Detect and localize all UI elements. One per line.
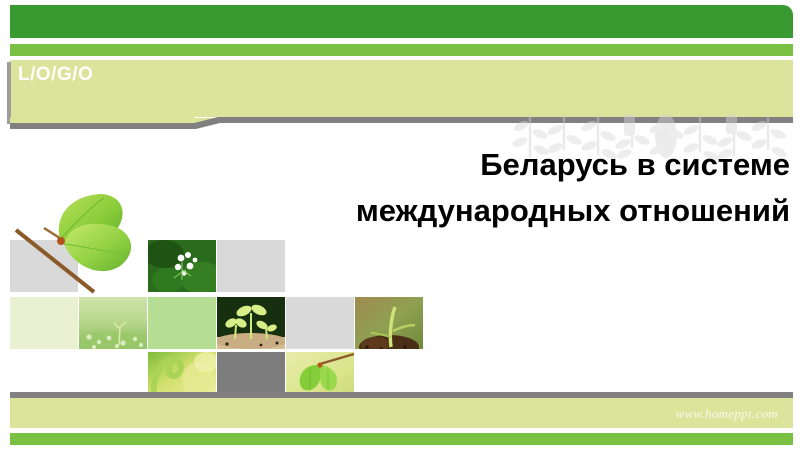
- header-band-bright: [10, 44, 793, 56]
- header-rule-diagonal: [192, 116, 220, 130]
- photo-tile-sprout-in-soil: [355, 297, 423, 349]
- photo-tile-white-flowers: [148, 240, 216, 292]
- photo-tile-green-leaves: [286, 352, 354, 397]
- header-left-edge-shadow: [7, 62, 11, 124]
- photo-tile-dark-grey: [217, 352, 285, 397]
- slide-canvas: L/O/G/O: [0, 0, 800, 450]
- footer-band-green: [10, 433, 793, 445]
- leaf-sprig-icon: [8, 192, 138, 297]
- photo-tile-grey-block: [286, 297, 354, 349]
- header-band-dark: [10, 5, 793, 38]
- page-title: Беларусь в системе международных отношен…: [150, 142, 790, 234]
- photo-tile-curled-shoot: [148, 352, 216, 397]
- header-rule-left: [10, 123, 194, 129]
- photo-tile-grey-block: [217, 240, 285, 292]
- photo-tile-pale-cream: [10, 297, 78, 349]
- photo-tile-light-green: [148, 297, 216, 349]
- footer-watermark: www.homeppt.com: [676, 406, 778, 422]
- logo-text[interactable]: L/O/G/O: [18, 62, 218, 88]
- photo-tile-three-sprouts: [217, 297, 285, 349]
- photo-tile-seedling-moss: [79, 297, 147, 349]
